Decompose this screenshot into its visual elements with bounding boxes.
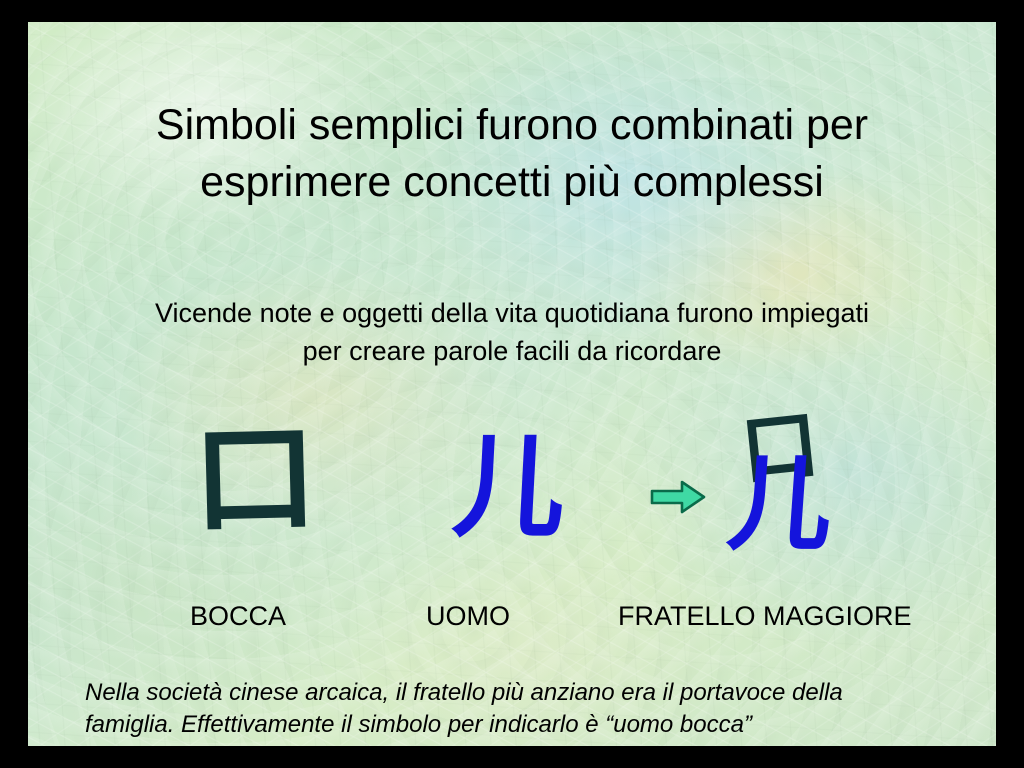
subtitle-line-2: per creare parole facili da ricordare [28,332,996,370]
footnote-line-1: Nella società cinese arcaica, il fratell… [85,677,965,709]
subtitle-line-1: Vicende note e oggetti della vita quotid… [28,294,996,332]
caption-row: BOCCA UOMO FRATELLO MAGGIORE [28,600,996,634]
slide-title: Simboli semplici furono combinati per es… [28,97,996,211]
slide-canvas: Simboli semplici furono combinati per es… [28,22,996,746]
slide-frame: Simboli semplici furono combinati per es… [0,0,1024,768]
glyph-row: 口 儿 口 儿 [28,404,996,564]
caption-man: UOMO [426,600,510,632]
right-arrow-icon [650,480,706,514]
caption-brother: FRATELLO MAGGIORE [618,600,912,632]
title-line-1: Simboli semplici furono combinati per [28,97,996,154]
glyph-man-character: 儿 [450,432,568,544]
caption-mouth: BOCCA [190,600,286,632]
slide-footnote: Nella società cinese arcaica, il fratell… [85,677,965,741]
glyph-brother-character: 口 儿 [728,410,878,550]
footnote-line-2: famiglia. Effettivamente il simbolo per … [85,709,965,741]
glyph-brother-bottom-part: 儿 [724,452,835,556]
glyph-mouth-character: 口 [191,419,319,540]
slide-subtitle: Vicende note e oggetti della vita quotid… [28,294,996,370]
title-line-2: esprimere concetti più complessi [28,154,996,211]
